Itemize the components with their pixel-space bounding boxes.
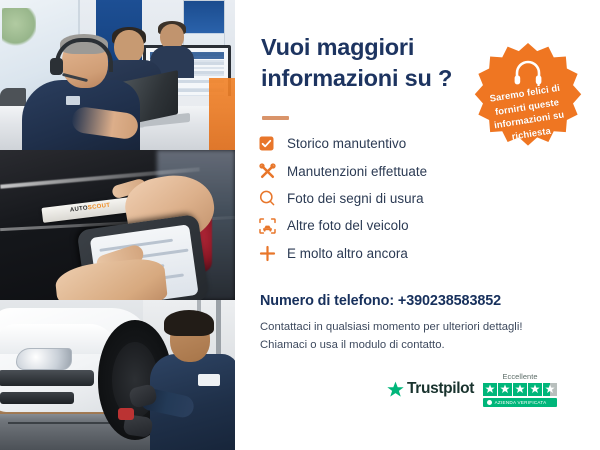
content-panel: Vuoi maggiori informazioni su ? Saremo f…: [235, 0, 600, 450]
car-grille-upper: [0, 370, 94, 386]
hair: [164, 310, 214, 336]
plus-icon: [259, 245, 287, 262]
uniform-logo: [198, 374, 220, 386]
car-headlight: [16, 348, 72, 370]
contact-instructions: Contattaci in qualsiasi momento per ulte…: [260, 318, 580, 355]
list-item-label: Altre foto del veicolo: [287, 218, 409, 233]
hand-tool: [118, 408, 134, 420]
photo-column: AUTOSCOUT: [0, 0, 235, 450]
list-item: Storico manutentivo: [259, 130, 559, 157]
trustpilot-rating: Trustpilot Eccellente: [387, 372, 557, 407]
trustpilot-rating-label: Eccellente: [483, 372, 557, 381]
list-item: Manutenzioni effettuate: [259, 157, 559, 184]
title-accent-divider: [262, 116, 289, 120]
lower-hand: [54, 256, 168, 300]
employee-badge: [66, 96, 80, 105]
star-icon: [498, 383, 512, 397]
trustpilot-logo: Trustpilot: [387, 380, 474, 398]
orange-foreground-object: [209, 78, 235, 150]
headset-earcup: [50, 58, 63, 75]
star-icon: [387, 381, 404, 398]
strip-brand-prefix: AUTO: [70, 205, 89, 213]
trustpilot-wordmark: Trustpilot: [407, 380, 474, 398]
crossed-tools-icon: [259, 163, 287, 180]
verified-company-text: AZIENDA VERIFICATA: [495, 400, 547, 405]
feature-list: Storico manutentivo Manutenzioni effettu…: [259, 130, 559, 267]
car-focus-frame-icon: [259, 218, 287, 234]
list-item-label: E molto altro ancora: [287, 246, 408, 261]
list-item-label: Storico manutentivo: [287, 136, 406, 151]
promo-poster: AUTOSCOUT: [0, 0, 600, 450]
magnifier-icon: [259, 190, 287, 206]
star-icon: [483, 383, 497, 397]
list-item-label: Foto dei segni di usura: [287, 191, 424, 206]
strip-brand-suffix: SCOUT: [88, 203, 111, 212]
list-item: Altre foto del veicolo: [259, 212, 559, 239]
phone-number-label: Numero di telefono: +390238583852: [260, 293, 501, 309]
star-half-icon: [543, 383, 557, 397]
contact-instructions-line-2: Chiamaci o usa il modulo di contatto.: [260, 336, 580, 354]
page-title: Vuoi maggiori informazioni su ?: [261, 32, 486, 94]
trustpilot-stars: [483, 383, 557, 397]
verified-company-badge: AZIENDA VERIFICATA: [483, 398, 557, 407]
list-item: Foto dei segni di usura: [259, 185, 559, 212]
headset-icon: [512, 60, 544, 86]
check-circle-icon: [487, 400, 492, 405]
call-center-agent-photo: [0, 0, 235, 150]
headset-agent: [22, 36, 140, 150]
star-icon: [528, 383, 542, 397]
trustpilot-score-block: Eccellente: [483, 372, 557, 407]
vehicle-inspection-phone-photo: AUTOSCOUT: [0, 150, 235, 300]
star-icon: [513, 383, 527, 397]
page-title-line-2: informazioni su ?: [261, 63, 486, 94]
page-title-line-1: Vuoi maggiori: [261, 32, 486, 63]
list-item-label: Manutenzioni effettuate: [287, 164, 427, 179]
car-grille-lower: [0, 392, 74, 404]
mechanic-tire-inspection-photo: [0, 300, 235, 450]
contact-instructions-line-1: Contattaci in qualsiasi momento per ulte…: [260, 318, 580, 336]
mechanic: [146, 312, 235, 450]
checkbox-checked-icon: [259, 136, 287, 151]
strip-brand-label: AUTOSCOUT: [70, 203, 111, 214]
list-item: E molto altro ancora: [259, 240, 559, 267]
